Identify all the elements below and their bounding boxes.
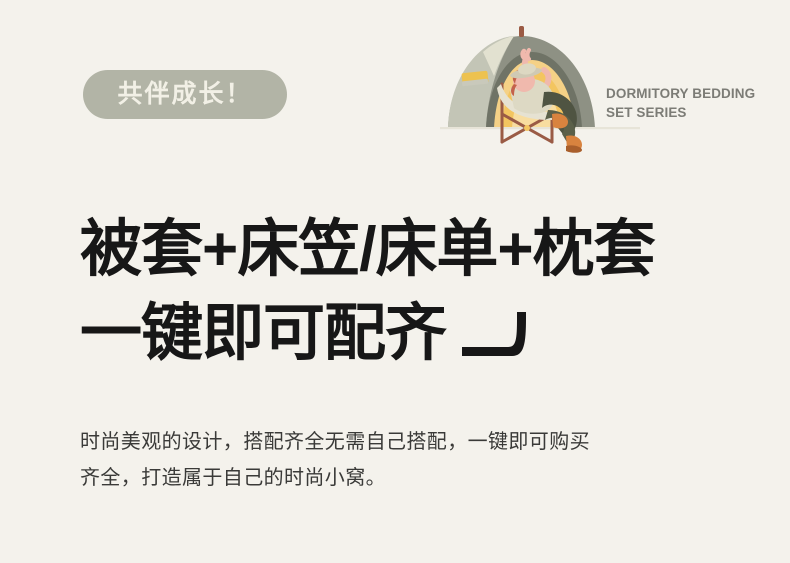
page-title: 被套+床笠/床单+枕套 一键即可配齐 — [80, 208, 770, 376]
series-label-line-1: DORMITORY BEDDING — [606, 84, 781, 103]
growth-badge-label: 共伴成长！ — [117, 82, 252, 107]
headline-line-2: 一键即可配齐 — [80, 292, 446, 376]
description-text: 时尚美观的设计，搭配齐全无需自己搭配，一键即可购买 齐全，打造属于自己的时尚小窝… — [80, 424, 720, 496]
description-line-2: 齐全，打造属于自己的时尚小窝。 — [80, 460, 720, 496]
series-label: DORMITORY BEDDING SET SERIES — [606, 84, 781, 122]
hook-stroke-decoration-icon — [460, 308, 538, 370]
growth-badge: 共伴成长！ — [83, 70, 287, 119]
headline-line-1: 被套+床笠/床单+枕套 — [80, 208, 770, 292]
description-line-1: 时尚美观的设计，搭配齐全无需自己搭配，一键即可购买 — [80, 424, 720, 460]
promo-banner: 共伴成长！ — [0, 0, 790, 563]
headline-line-2-wrap: 一键即可配齐 — [80, 292, 770, 376]
series-label-line-2: SET SERIES — [606, 103, 781, 122]
